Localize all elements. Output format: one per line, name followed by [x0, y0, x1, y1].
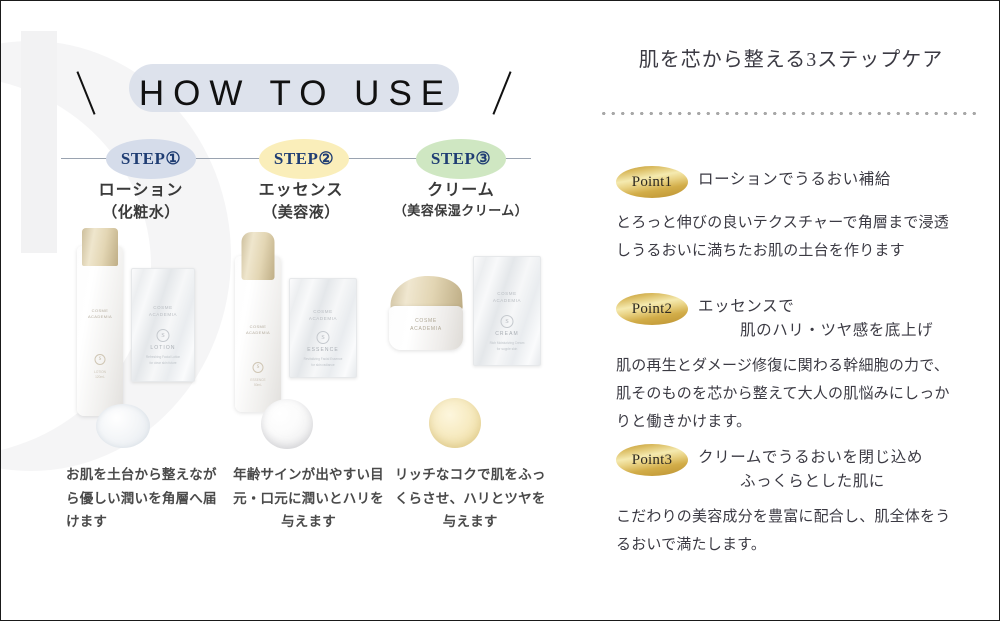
- step-badge-3: STEP③: [416, 139, 506, 179]
- infographic-page: HOW TO USE STEP① STEP② STEP③ ローション （化粧水）…: [0, 0, 1000, 621]
- essence-bottle: COSME ACADEMIA S ESSENCE 50mL: [235, 256, 281, 412]
- cream-sachet-fineprint: Rich Moisturizing Cream for supple skin: [482, 341, 532, 353]
- cream-jar-brand: COSME ACADEMIA: [389, 318, 463, 333]
- point-badge-3: Point3: [616, 444, 688, 476]
- product-name-2-main: エッセンス: [221, 179, 381, 202]
- point-1-title-line1: ローションでうるおい補給: [698, 171, 891, 188]
- point-3-body-line2: るおいで満たします。: [616, 532, 986, 560]
- point-2-title-line2: 肌のハリ・ツヤ感を底上げ: [698, 319, 986, 343]
- lotion-sachet-fineprint: Refreshing Facial Lotion for clear skin …: [140, 355, 186, 367]
- product-name-1-sub: （化粧水）: [61, 202, 221, 224]
- lotion-sachet-name: LOTION: [132, 345, 194, 351]
- how-to-use-title-block: HOW TO USE: [61, 56, 531, 131]
- product-names-row: ローション （化粧水） エッセンス （美容液） クリーム （美容保湿クリーム）: [61, 179, 541, 235]
- point-2-body: 肌の再生とダメージ修復に関わる幹細胞の力で、 肌そのものを芯から整えて大人の肌悩…: [616, 353, 986, 436]
- lotion-bottle-fineprint: LOTION 120mL: [84, 370, 116, 380]
- point-2-title-line1: エッセンスで: [698, 298, 794, 315]
- cream-texture-swatch: [429, 398, 481, 448]
- cream-jar: COSME ACADEMIA: [389, 276, 463, 350]
- point-1-body-line1: とろっと伸びの良いテクスチャーで角層まで浸透: [616, 210, 986, 238]
- product-name-3-sub: （美容保湿クリーム）: [381, 202, 541, 221]
- point-3-body: こだわりの美容成分を豊富に配合し、肌全体をう るおいで満たします。: [616, 504, 986, 560]
- point-badge-1: Point1: [616, 166, 688, 198]
- point-3-title: クリームでうるおいを閉じ込め ふっくらとした肌に: [698, 444, 986, 494]
- page-title: HOW TO USE: [61, 56, 531, 131]
- essence-sachet-fineprint: Revitalizing Facial Essence for skin rad…: [298, 357, 348, 369]
- essence-bottle-cap: [242, 232, 275, 280]
- step-badge-1: STEP①: [106, 139, 196, 179]
- point-3-title-line2: ふっくらとした肌に: [698, 470, 986, 494]
- product-name-2: エッセンス （美容液）: [221, 179, 381, 235]
- point-block-3: Point3 クリームでうるおいを閉じ込め ふっくらとした肌に こだわりの美容成…: [616, 444, 986, 560]
- point-1-header: Point1 ローションでうるおい補給: [616, 166, 986, 200]
- point-block-1: Point1 ローションでうるおい補給 とろっと伸びの良いテクスチャーで角層まで…: [616, 166, 986, 266]
- essence-bottle-fineprint: ESSENCE 50mL: [242, 378, 274, 388]
- points-section-title: 肌を芯から整える3ステップケア: [591, 43, 991, 72]
- lotion-sachet-brand: COSME ACADEMIA: [132, 305, 194, 319]
- point-2-body-line3: りと働きかけます。: [616, 409, 986, 437]
- cream-sachet: COSME ACADEMIA S CREAM Rich Moisturizing…: [473, 256, 541, 366]
- point-1-body: とろっと伸びの良いテクスチャーで角層まで浸透 しうるおいに満ちたお肌の土台を作り…: [616, 210, 986, 266]
- lotion-sachet: COSME ACADEMIA S LOTION Refreshing Facia…: [131, 268, 195, 382]
- point-2-header: Point2 エッセンスで 肌のハリ・ツヤ感を底上げ: [616, 293, 986, 343]
- cream-sachet-name: CREAM: [474, 331, 540, 337]
- product-name-1: ローション （化粧水）: [61, 179, 221, 235]
- lotion-bottle-cap: [82, 228, 118, 266]
- product-name-1-main: ローション: [61, 179, 221, 202]
- lotion-bottle-logo-icon: S: [95, 354, 106, 365]
- point-2-body-line1: 肌の再生とダメージ修復に関わる幹細胞の力で、: [616, 353, 986, 381]
- point-block-2: Point2 エッセンスで 肌のハリ・ツヤ感を底上げ 肌の再生とダメージ修復に関…: [616, 293, 986, 436]
- step-badge-2: STEP②: [259, 139, 349, 179]
- product-images-row: COSME ACADEMIA S LOTION 120mL COSME ACAD…: [61, 236, 541, 456]
- product-captions-row: お肌を土台から整えながら優しい潤いを角層へ届けます 年齢サインが出やすい目元・口…: [56, 463, 551, 534]
- essence-sachet-logo-icon: S: [317, 331, 330, 344]
- product-image-cream: COSME ACADEMIA COSME ACADEMIA S CREAM Ri…: [381, 236, 541, 456]
- point-3-title-line1: クリームでうるおいを閉じ込め: [698, 449, 923, 466]
- essence-texture-swatch: [261, 399, 313, 449]
- product-caption-1: お肌を土台から整えながら優しい潤いを角層へ届けます: [56, 463, 228, 534]
- points-section: 肌を芯から整える3ステップケア Point1 ローションでうるおい補給 とろっと…: [591, 1, 1000, 621]
- lotion-sachet-logo-icon: S: [157, 329, 170, 342]
- point-1-body-line2: しうるおいに満ちたお肌の土台を作ります: [616, 238, 986, 266]
- essence-bottle-brand: COSME ACADEMIA: [241, 324, 275, 336]
- cream-sachet-logo-icon: S: [501, 315, 514, 328]
- dotted-divider: [599, 111, 979, 116]
- product-name-2-sub: （美容液）: [221, 202, 381, 224]
- point-3-body-line1: こだわりの美容成分を豊富に配合し、肌全体をう: [616, 504, 986, 532]
- product-name-3-main: クリーム: [381, 179, 541, 202]
- cream-jar-glass: COSME ACADEMIA: [389, 306, 463, 350]
- essence-bottle-logo-icon: S: [253, 362, 264, 373]
- steps-row: STEP① STEP② STEP③: [61, 139, 531, 179]
- point-2-body-line2: 肌そのものを芯から整えて大人の肌悩みにしっか: [616, 381, 986, 409]
- product-caption-2: 年齢サインが出やすい目元・口元に潤いとハリを与えます: [228, 463, 390, 534]
- lotion-bottle-brand: COSME ACADEMIA: [83, 308, 117, 320]
- essence-sachet: COSME ACADEMIA S ESSENCE Revitalizing Fa…: [289, 278, 357, 378]
- product-image-essence: COSME ACADEMIA S ESSENCE 50mL COSME ACAD…: [221, 236, 381, 456]
- product-caption-3: リッチなコクで肌をふっくらさせ、ハリとツヤを与えます: [389, 463, 551, 534]
- product-name-3: クリーム （美容保湿クリーム）: [381, 179, 541, 235]
- point-1-title: ローションでうるおい補給: [698, 166, 986, 192]
- product-image-lotion: COSME ACADEMIA S LOTION 120mL COSME ACAD…: [61, 236, 221, 456]
- point-3-header: Point3 クリームでうるおいを閉じ込め ふっくらとした肌に: [616, 444, 986, 494]
- lotion-bottle: COSME ACADEMIA S LOTION 120mL: [77, 246, 123, 416]
- lotion-texture-swatch: [96, 404, 150, 448]
- essence-sachet-name: ESSENCE: [290, 347, 356, 353]
- point-2-title: エッセンスで 肌のハリ・ツヤ感を底上げ: [698, 293, 986, 343]
- cream-sachet-brand: COSME ACADEMIA: [474, 291, 540, 305]
- how-to-use-section: HOW TO USE STEP① STEP② STEP③ ローション （化粧水）…: [1, 1, 591, 621]
- point-badge-2: Point2: [616, 293, 688, 325]
- essence-sachet-brand: COSME ACADEMIA: [290, 309, 356, 323]
